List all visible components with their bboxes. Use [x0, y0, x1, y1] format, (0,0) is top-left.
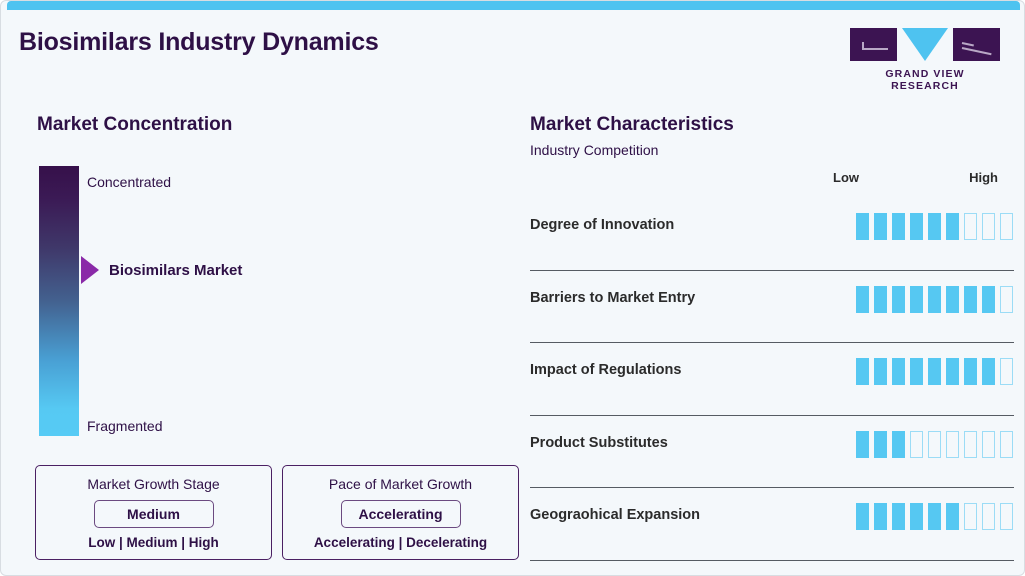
- rating-scale-labels: Low High: [833, 170, 998, 185]
- characteristic-label: Geograohical Expansion: [530, 507, 700, 523]
- logo-marks: [850, 28, 1000, 63]
- rating-tick-empty: [946, 431, 959, 458]
- rating-tick-filled: [874, 503, 887, 530]
- market-concentration-title: Market Concentration: [37, 114, 232, 136]
- rating-tick-empty: [910, 431, 923, 458]
- rating-tick-empty: [1000, 431, 1013, 458]
- rating-tick-filled: [856, 431, 869, 458]
- rating-tick-filled: [982, 286, 995, 313]
- rating-tick-empty: [928, 431, 941, 458]
- rating-scale-high-label: High: [969, 170, 998, 185]
- rating-tick-filled: [910, 286, 923, 313]
- rating-tick-empty: [982, 503, 995, 530]
- characteristic-rating-bars: [856, 358, 1013, 385]
- top-accent-bar: [7, 1, 1020, 10]
- market-growth-stage-value-wrap: Medium: [44, 500, 263, 528]
- scale-label-fragmented: Fragmented: [87, 418, 162, 434]
- logo-r-diagonal-icon: [962, 47, 992, 55]
- rating-tick-filled: [928, 286, 941, 313]
- rating-tick-filled: [856, 358, 869, 385]
- logo-triangle-icon: [902, 28, 948, 61]
- market-characteristics-title: Market Characteristics: [530, 114, 734, 136]
- market-growth-stage-value: Medium: [94, 500, 214, 528]
- rating-tick-filled: [946, 213, 959, 240]
- rating-tick-filled: [856, 213, 869, 240]
- rating-tick-filled: [910, 358, 923, 385]
- market-growth-stage-heading: Market Growth Stage: [44, 476, 263, 492]
- rating-tick-empty: [982, 213, 995, 240]
- characteristic-row: Barriers to Market Entry: [530, 271, 1014, 344]
- characteristic-label: Barriers to Market Entry: [530, 290, 695, 306]
- characteristic-row: Geograohical Expansion: [530, 488, 1014, 561]
- logo-block-r-icon: [953, 28, 1000, 61]
- page-title: Biosimilars Industry Dynamics: [19, 28, 379, 57]
- rating-tick-filled: [946, 503, 959, 530]
- market-characteristics-subtitle: Industry Competition: [530, 142, 658, 158]
- rating-tick-filled: [892, 503, 905, 530]
- rating-tick-filled: [874, 431, 887, 458]
- characteristic-row: Impact of Regulations: [530, 343, 1014, 416]
- rating-tick-filled: [928, 358, 941, 385]
- logo-g-stem-icon: [862, 42, 864, 50]
- pace-of-growth-value-wrap: Accelerating: [291, 500, 510, 528]
- rating-tick-empty: [1000, 358, 1013, 385]
- characteristic-rating-bars: [856, 503, 1013, 530]
- rating-tick-empty: [1000, 213, 1013, 240]
- rating-tick-empty: [964, 213, 977, 240]
- characteristic-rating-bars: [856, 213, 1013, 240]
- pace-of-growth-heading: Pace of Market Growth: [291, 476, 510, 492]
- market-concentration-panel: Market Concentration Concentrated Fragme…: [1, 96, 513, 576]
- characteristic-row: Product Substitutes: [530, 416, 1014, 489]
- rating-tick-empty: [1000, 286, 1013, 313]
- characteristic-label: Impact of Regulations: [530, 362, 681, 378]
- header: Biosimilars Industry Dynamics GRAND VIEW…: [1, 10, 1025, 82]
- market-growth-stage-box: Market Growth Stage Medium Low | Medium …: [35, 465, 272, 560]
- characteristic-label: Degree of Innovation: [530, 217, 674, 233]
- rating-tick-filled: [874, 213, 887, 240]
- market-position-marker: Biosimilars Market: [81, 256, 242, 284]
- characteristics-rows: Degree of InnovationBarriers to Market E…: [530, 198, 1014, 561]
- rating-tick-filled: [856, 503, 869, 530]
- rating-tick-filled: [964, 358, 977, 385]
- rating-tick-filled: [856, 286, 869, 313]
- rating-tick-filled: [910, 503, 923, 530]
- rating-tick-filled: [892, 358, 905, 385]
- characteristic-rating-bars: [856, 286, 1013, 313]
- characteristic-row: Degree of Innovation: [530, 198, 1014, 271]
- market-position-label: Biosimilars Market: [109, 262, 242, 279]
- rating-scale-low-label: Low: [833, 170, 859, 185]
- rating-tick-empty: [964, 503, 977, 530]
- rating-tick-empty: [1000, 503, 1013, 530]
- rating-tick-filled: [892, 431, 905, 458]
- growth-stage-boxes: Market Growth Stage Medium Low | Medium …: [35, 465, 519, 560]
- logo-g-bar-icon: [862, 48, 888, 50]
- pace-of-growth-scale: Accelerating | Decelerating: [291, 535, 510, 550]
- rating-tick-filled: [928, 503, 941, 530]
- logo-wordmark: GRAND VIEW RESEARCH: [850, 68, 1000, 92]
- rating-tick-filled: [910, 213, 923, 240]
- rating-tick-empty: [964, 431, 977, 458]
- rating-tick-filled: [964, 286, 977, 313]
- logo-r-top-icon: [962, 42, 974, 46]
- infographic-page: Biosimilars Industry Dynamics GRAND VIEW…: [0, 0, 1025, 576]
- scale-label-concentrated: Concentrated: [87, 174, 171, 190]
- rating-tick-filled: [874, 286, 887, 313]
- characteristic-rating-bars: [856, 431, 1013, 458]
- rating-tick-filled: [874, 358, 887, 385]
- marker-arrow-icon: [81, 256, 99, 284]
- pace-of-growth-box: Pace of Market Growth Accelerating Accel…: [282, 465, 519, 560]
- rating-tick-filled: [928, 213, 941, 240]
- rating-tick-filled: [982, 358, 995, 385]
- market-characteristics-panel: Market Characteristics Industry Competit…: [513, 96, 1025, 576]
- rating-tick-empty: [982, 431, 995, 458]
- rating-tick-filled: [892, 213, 905, 240]
- pace-of-growth-value: Accelerating: [341, 500, 461, 528]
- rating-tick-filled: [946, 358, 959, 385]
- rating-tick-filled: [946, 286, 959, 313]
- logo: GRAND VIEW RESEARCH: [850, 28, 1000, 92]
- market-growth-stage-scale: Low | Medium | High: [44, 535, 263, 550]
- logo-block-g-icon: [850, 28, 897, 61]
- characteristic-label: Product Substitutes: [530, 435, 668, 451]
- rating-tick-filled: [892, 286, 905, 313]
- concentration-gradient-scale: [39, 166, 79, 436]
